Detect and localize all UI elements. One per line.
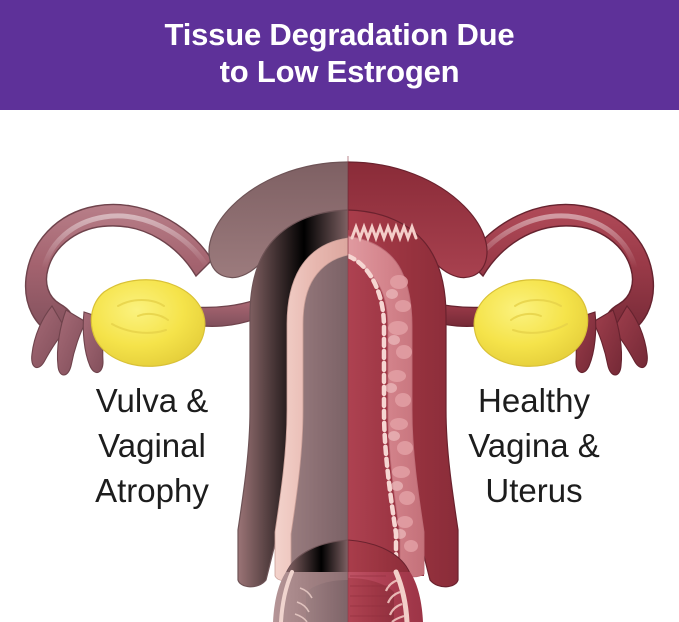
label-left-line-2: Vaginal	[36, 423, 268, 468]
infographic-root: Tissue Degradation Due to Low Estrogen	[0, 0, 679, 622]
header-title-line-1: Tissue Degradation Due	[165, 16, 515, 53]
ovary-right	[474, 280, 588, 367]
label-healthy-vagina-uterus: Healthy Vagina & Uterus	[418, 378, 650, 513]
label-right-line-2: Vagina &	[418, 423, 650, 468]
label-left-line-3: Atrophy	[36, 468, 268, 513]
header-title-line-2: to Low Estrogen	[220, 53, 460, 90]
header-banner: Tissue Degradation Due to Low Estrogen	[0, 0, 679, 110]
label-vulva-vaginal-atrophy: Vulva & Vaginal Atrophy	[36, 378, 268, 513]
anatomy-illustration	[0, 110, 679, 622]
label-right-line-1: Healthy	[418, 378, 650, 423]
label-left-line-1: Vulva &	[36, 378, 268, 423]
label-right-line-3: Uterus	[418, 468, 650, 513]
ovary-left	[91, 280, 205, 367]
